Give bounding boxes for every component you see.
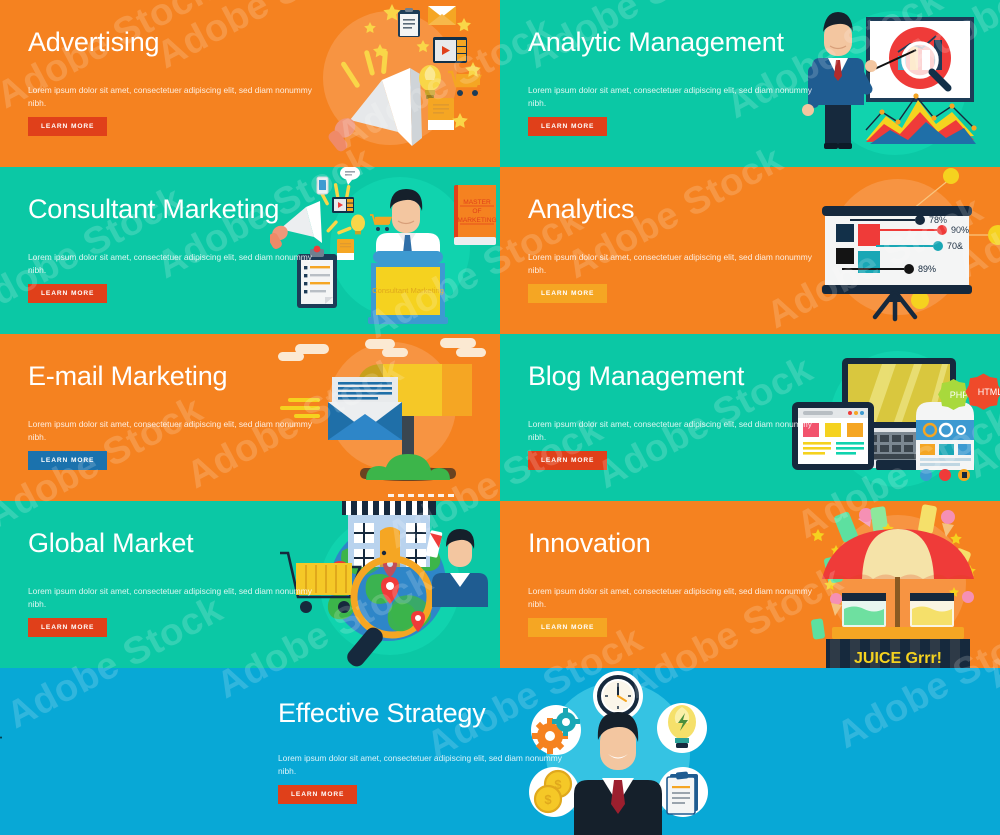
banner-title: Global Market — [28, 528, 193, 559]
stat-label-1: 78% — [929, 215, 947, 225]
banner-title: Analytics — [528, 194, 634, 225]
podium-sign: Consultant Marketing — [372, 286, 444, 295]
copy-email-marketing: E-mail Marketing Lorem ipsum dolor sit a… — [28, 334, 358, 501]
banner-title: Effective Strategy — [278, 698, 486, 729]
banner-analytic-management[interactable]: Analytic Management Lorem ipsum dolor si… — [500, 0, 1000, 167]
learn-more-button[interactable]: LEARN MORE — [28, 618, 107, 637]
banner-blog-management[interactable]: PHP HTML Blog Management Lorem ipsum dol… — [500, 334, 1000, 501]
book-line2: OF — [472, 208, 481, 215]
clipboard-icon — [658, 767, 708, 817]
book-line1: MASTER — [463, 199, 491, 206]
copy-analytic-management: Analytic Management Lorem ipsum dolor si… — [528, 0, 858, 167]
copy-consultant-marketing: Consultant Marketing Lorem ipsum dolor s… — [28, 167, 358, 334]
banner-email-marketing[interactable]: E-mail Marketing Lorem ipsum dolor sit a… — [0, 334, 500, 501]
learn-more-button[interactable]: LEARN MORE — [278, 785, 357, 804]
banner-title: Analytic Management — [528, 27, 784, 58]
stat-label-2: 90% — [951, 225, 969, 235]
badge-html: HTML — [978, 387, 1000, 397]
learn-more-button[interactable]: LEARN MORE — [28, 284, 107, 303]
banner-innovation[interactable]: JUICE Grrr! Innovation Lorem ipsum dolo — [500, 501, 1000, 668]
banner-description: Lorem ipsum dolor sit amet, consectetuer… — [28, 84, 328, 110]
copy-advertising: Advertising Lorem ipsum dolor sit amet, … — [28, 0, 358, 167]
banner-title: E-mail Marketing — [28, 361, 227, 392]
banner-title: Innovation — [528, 528, 651, 559]
banner-description: Lorem ipsum dolor sit amet, consectetuer… — [528, 251, 828, 277]
banner-description: Lorem ipsum dolor sit amet, consectetuer… — [28, 418, 328, 444]
learn-more-button[interactable]: LEARN MORE — [528, 451, 607, 470]
stand-sign: JUICE Grrr! — [854, 650, 942, 667]
copy-global-market: Global Market Lorem ipsum dolor sit amet… — [28, 501, 358, 668]
banner-global-market[interactable]: Global Market Lorem ipsum dolor sit amet… — [0, 501, 500, 668]
banner-description: Lorem ipsum dolor sit amet, consectetuer… — [28, 251, 328, 277]
banner-sheet: Advertising Lorem ipsum dolor sit amet, … — [0, 0, 1000, 835]
copy-effective-strategy: Effective Strategy Lorem ipsum dolor sit… — [278, 668, 618, 835]
banner-consultant-marketing[interactable]: MASTER OF MARKETING — [0, 167, 500, 334]
copy-analytics: Analytics Lorem ipsum dolor sit amet, co… — [528, 167, 858, 334]
lightbulb-icon — [657, 703, 707, 753]
banner-description: Lorem ipsum dolor sit amet, consectetuer… — [528, 585, 828, 611]
banner-advertising[interactable]: Advertising Lorem ipsum dolor sit amet, … — [0, 0, 500, 167]
book-line3: MARKETING — [457, 217, 496, 224]
banner-analytics[interactable]: 78% 90% 70& 89% — [500, 167, 1000, 334]
banner-title: Consultant Marketing — [28, 194, 279, 225]
banner-description: Lorem ipsum dolor sit amet, consectetuer… — [28, 585, 328, 611]
learn-more-button[interactable]: LEARN MORE — [28, 117, 107, 136]
banner-effective-strategy[interactable]: $ $ — [0, 668, 1000, 835]
learn-more-button[interactable]: LEARN MORE — [528, 117, 607, 136]
copy-blog-management: Blog Management Lorem ipsum dolor sit am… — [528, 334, 858, 501]
banner-grid: Advertising Lorem ipsum dolor sit amet, … — [0, 0, 1000, 668]
banner-title: Blog Management — [528, 361, 744, 392]
learn-more-button[interactable]: LEARN MORE — [528, 618, 607, 637]
copy-innovation: Innovation Lorem ipsum dolor sit amet, c… — [528, 501, 858, 668]
learn-more-button[interactable]: LEARN MORE — [28, 451, 107, 470]
learn-more-button[interactable]: LEARN MORE — [528, 284, 607, 303]
banner-description: Lorem ipsum dolor sit amet, consectetuer… — [278, 752, 578, 778]
banner-title: Advertising — [28, 27, 159, 58]
banner-description: Lorem ipsum dolor sit amet, consectetuer… — [528, 418, 828, 444]
stat-label-3: 70& — [947, 241, 963, 251]
stat-label-4: 89% — [918, 264, 936, 274]
banner-description: Lorem ipsum dolor sit amet, consectetuer… — [528, 84, 828, 110]
